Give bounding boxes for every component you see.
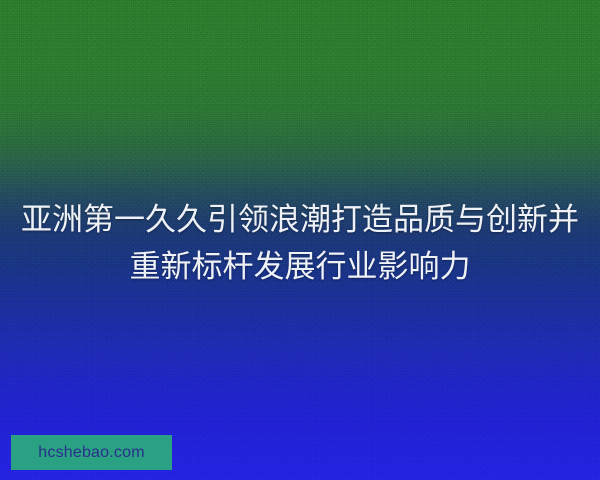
headline-text: 亚洲第一久久引领浪潮打造品质与创新并 重新标杆发展行业影响力 [0, 196, 600, 290]
watermark-label: hcshebao.com [38, 444, 144, 462]
watermark-badge: hcshebao.com [11, 435, 172, 470]
headline-line-2: 重新标杆发展行业影响力 [0, 243, 600, 290]
headline-line-1: 亚洲第一久久引领浪潮打造品质与创新并 [0, 196, 600, 243]
banner-image: 亚洲第一久久引领浪潮打造品质与创新并 重新标杆发展行业影响力 hcshebao.… [0, 0, 600, 480]
